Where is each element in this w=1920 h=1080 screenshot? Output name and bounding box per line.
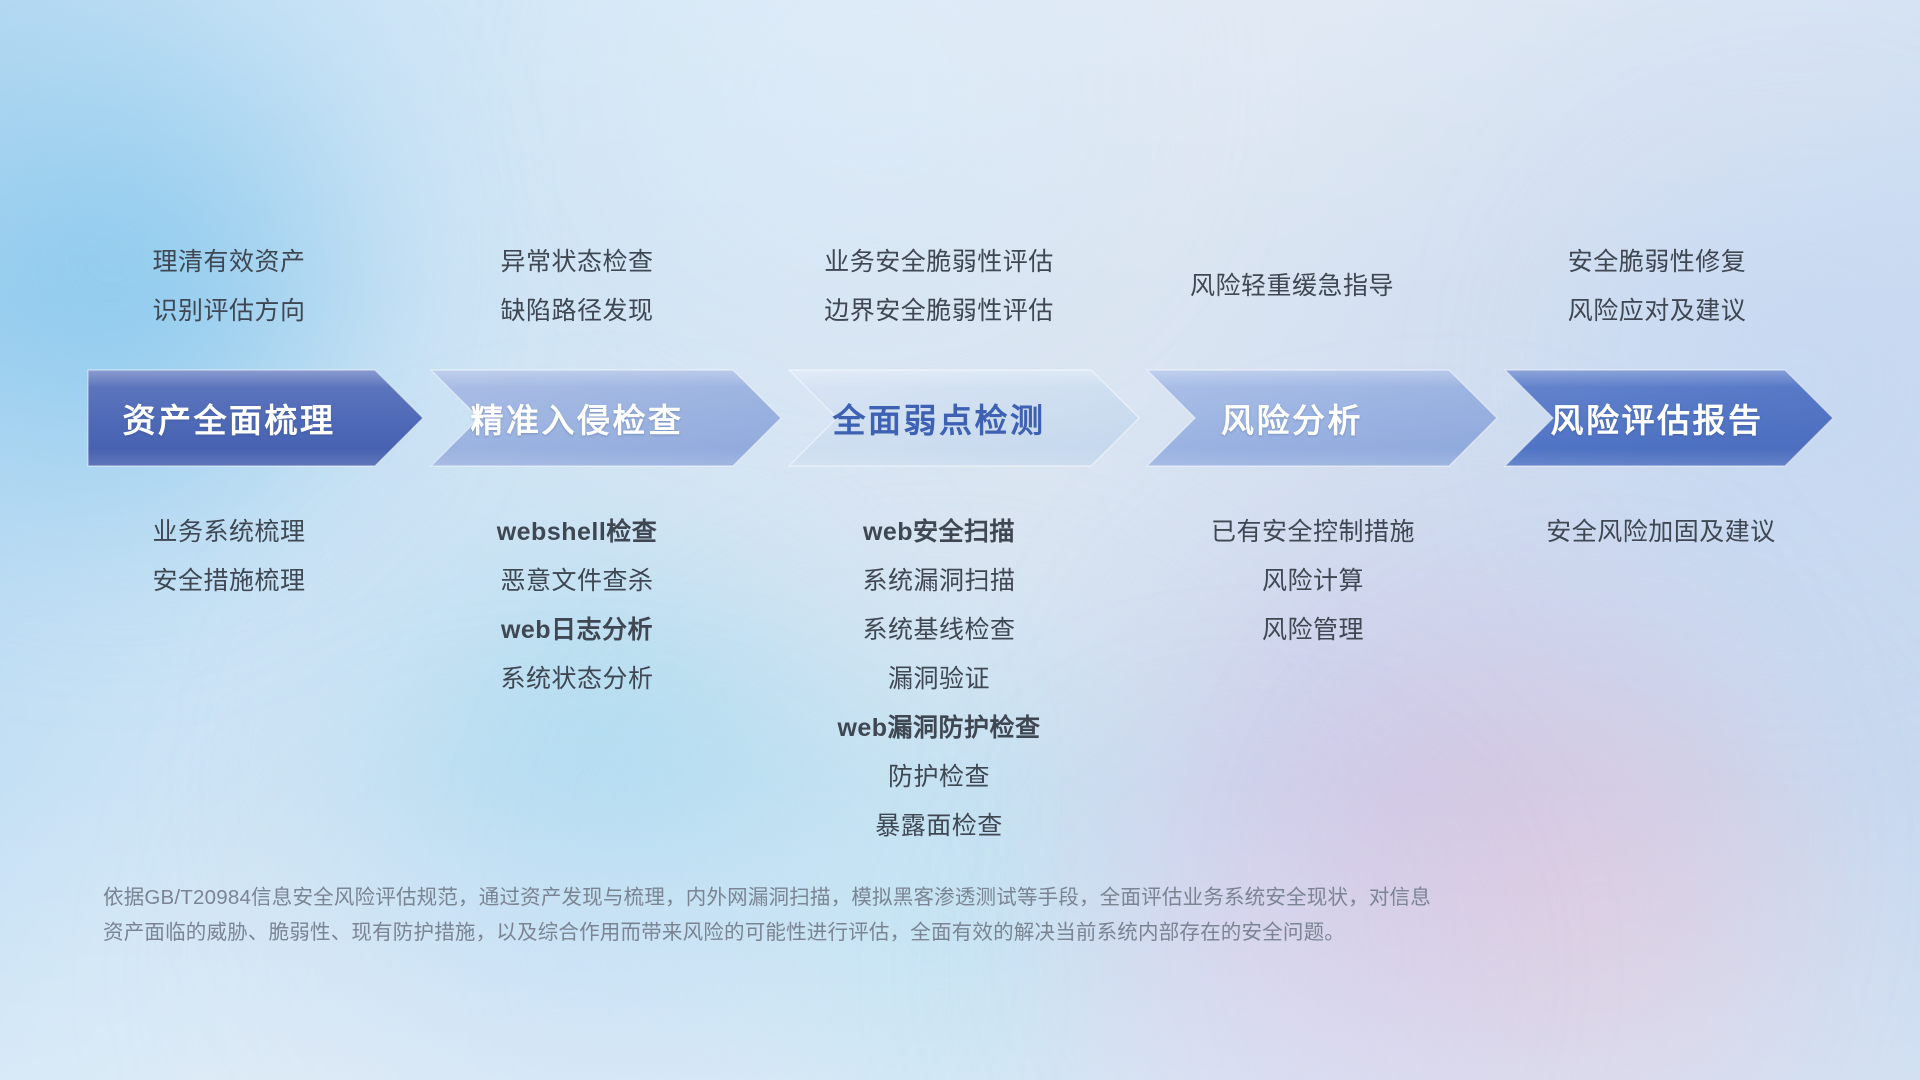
- bottom-item: 系统状态分析: [497, 655, 658, 704]
- stage-top-items-intrusion-check: 异常状态检查 缺陷路径发现: [500, 238, 653, 336]
- top-item: 识别评估方向: [152, 287, 305, 336]
- process-diagram: 理清有效资产 识别评估方向 异常状态检查 缺陷路径发现 业务安全脆弱性评估 边界…: [0, 0, 1920, 1080]
- top-item: 业务安全脆弱性评估: [824, 238, 1054, 287]
- footer-line-1: 依据GB/T20984信息安全风险评估规范，通过资产发现与梳理，内外网漏洞扫描，…: [103, 880, 1633, 915]
- bottom-item: web日志分析: [497, 606, 658, 655]
- bottom-item: web漏洞防护检查: [837, 704, 1040, 753]
- chevron-label-risk-analysis[interactable]: 风险分析: [1221, 394, 1363, 442]
- bottom-item: 系统漏洞扫描: [837, 557, 1040, 606]
- stage-top-items-risk-analysis: 风险轻重缓急指导: [1190, 262, 1394, 311]
- stage-bottom-items-weakness-detection: web安全扫描 系统漏洞扫描 系统基线检查 漏洞验证 web漏洞防护检查 防护检…: [837, 508, 1040, 851]
- stage-bottom-items-asset-inventory: 业务系统梳理 安全措施梳理: [152, 508, 305, 606]
- footer-description: 依据GB/T20984信息安全风险评估规范，通过资产发现与梳理，内外网漏洞扫描，…: [103, 880, 1633, 950]
- bottom-item: 业务系统梳理: [152, 508, 305, 557]
- bottom-item: 防护检查: [837, 753, 1040, 802]
- chevron-label-intrusion-check[interactable]: 精准入侵检查: [471, 394, 684, 442]
- chevron-label-asset-inventory[interactable]: 资产全面梳理: [123, 394, 336, 442]
- chevron-label-risk-report[interactable]: 风险评估报告: [1551, 394, 1764, 442]
- top-item: 安全脆弱性修复: [1568, 238, 1747, 287]
- stage-top-items-weakness-detection: 业务安全脆弱性评估 边界安全脆弱性评估: [824, 238, 1054, 336]
- top-item: 风险应对及建议: [1568, 287, 1747, 336]
- process-chevron-band: 资产全面梳理 精准入侵检查 全面弱点检测 风险分析 风险评估报告: [0, 368, 1920, 468]
- bottom-item: 系统基线检查: [837, 606, 1040, 655]
- bottom-item: 恶意文件查杀: [497, 557, 658, 606]
- bottom-item: 暴露面检查: [837, 802, 1040, 851]
- bottom-item: web安全扫描: [837, 508, 1040, 557]
- stage-bottom-items-risk-analysis: 已有安全控制措施 风险计算 风险管理: [1211, 508, 1415, 655]
- bottom-item: 风险管理: [1211, 606, 1415, 655]
- top-item: 理清有效资产: [152, 238, 305, 287]
- stage-bottom-items-risk-report: 安全风险加固及建议: [1546, 508, 1776, 557]
- bottom-item: 漏洞验证: [837, 655, 1040, 704]
- bottom-item: 已有安全控制措施: [1211, 508, 1415, 557]
- bottom-item: 安全风险加固及建议: [1546, 508, 1776, 557]
- bottom-item: 风险计算: [1211, 557, 1415, 606]
- footer-line-2: 资产面临的威胁、脆弱性、现有防护措施，以及综合作用而带来风险的可能性进行评估，全…: [103, 915, 1633, 950]
- stage-bottom-items-intrusion-check: webshell检查 恶意文件查杀 web日志分析 系统状态分析: [497, 508, 658, 704]
- stage-top-items-asset-inventory: 理清有效资产 识别评估方向: [152, 238, 305, 336]
- top-item: 边界安全脆弱性评估: [824, 287, 1054, 336]
- top-item: 风险轻重缓急指导: [1190, 262, 1394, 311]
- top-item: 缺陷路径发现: [500, 287, 653, 336]
- chevron-label-weakness-detection[interactable]: 全面弱点检测: [833, 394, 1046, 442]
- bottom-item: webshell检查: [497, 508, 658, 557]
- bottom-item: 安全措施梳理: [152, 557, 305, 606]
- top-item: 异常状态检查: [500, 238, 653, 287]
- stage-top-items-risk-report: 安全脆弱性修复 风险应对及建议: [1568, 238, 1747, 336]
